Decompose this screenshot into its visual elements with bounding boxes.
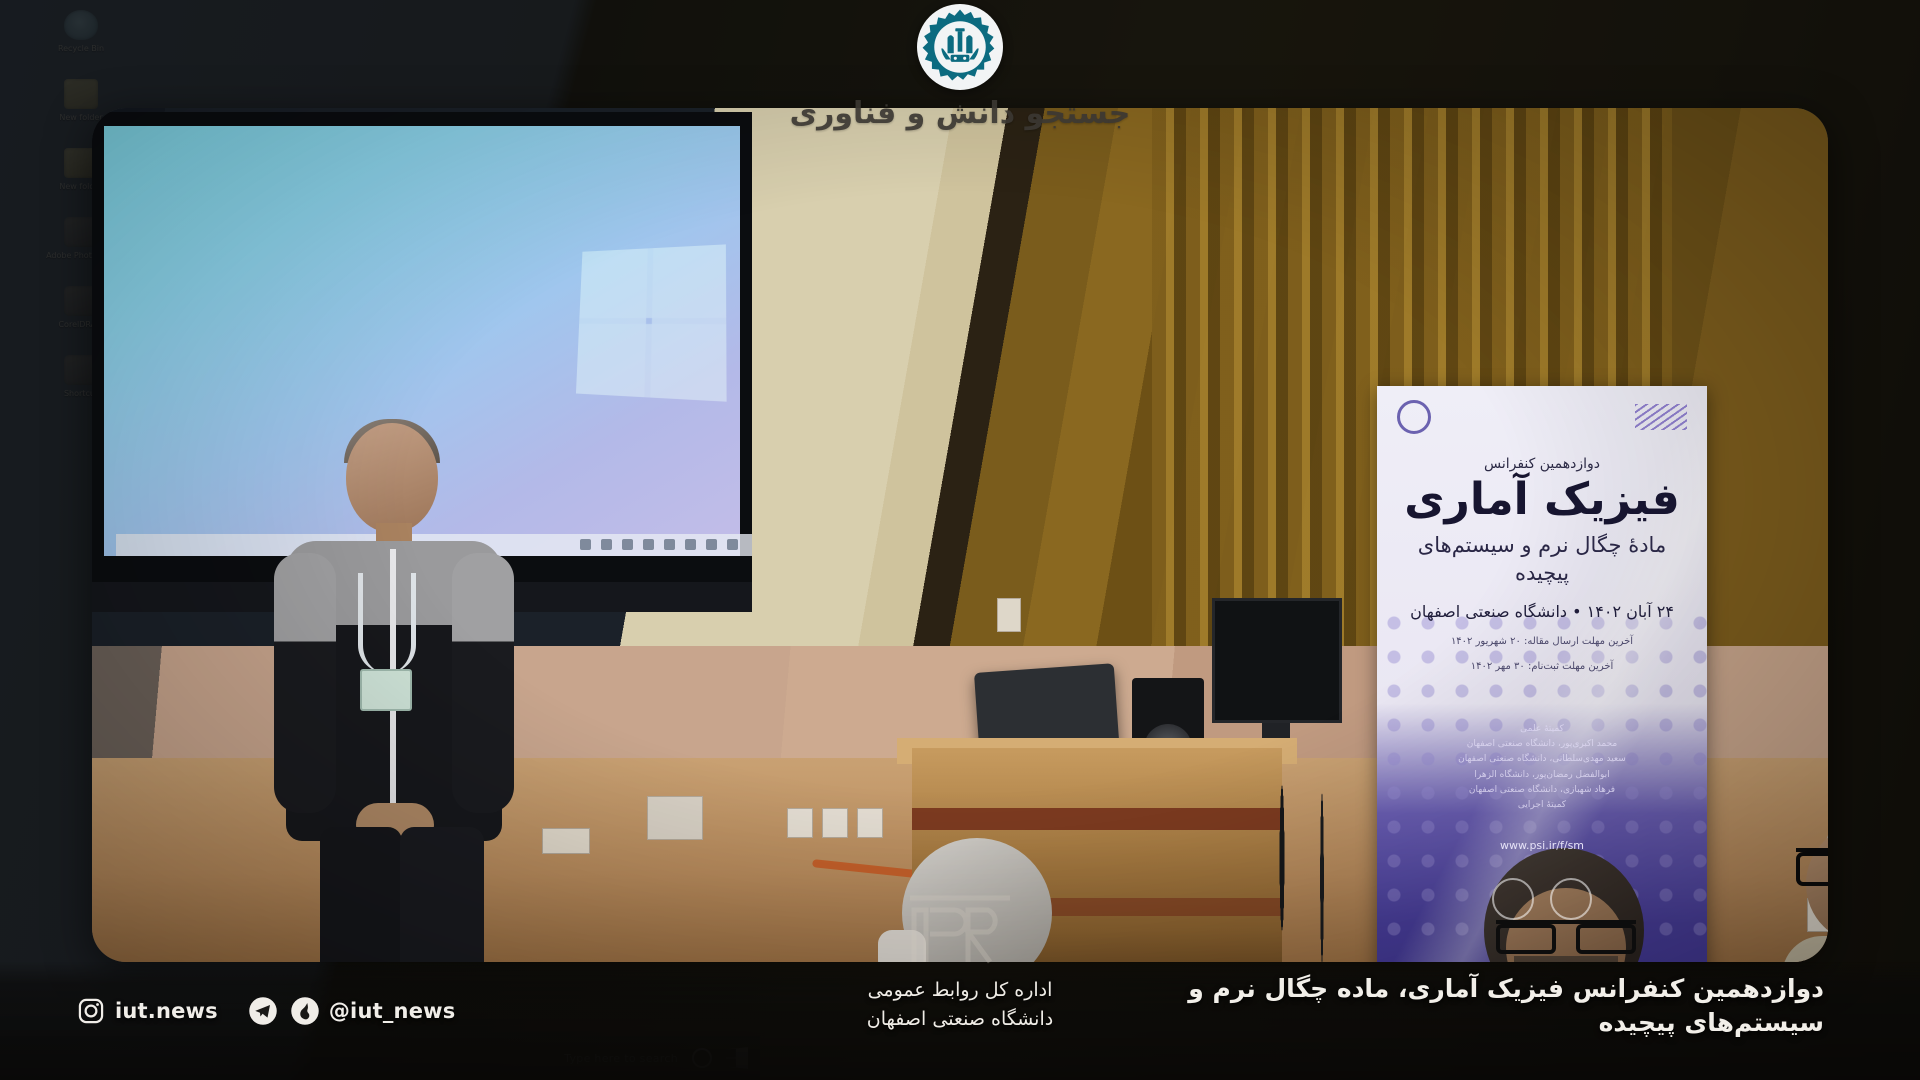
presenter-head (346, 423, 438, 533)
banner-date-venue: ۲۴ آبان ۱۴۰۲ • دانشگاه صنعتی اصفهان (1393, 600, 1691, 624)
footer-org-line-1: اداره کل روابط عمومی (867, 976, 1053, 1005)
telegram-icon (248, 996, 278, 1026)
banner-committee: کمیتهٔ علمی محمد اکبری‌پور، دانشگاه صنعت… (1393, 722, 1691, 814)
banner-committee-member: ابوالفضل رمضان‌پور، دانشگاه الزهرا (1393, 768, 1691, 783)
footer-caption: دوازدهمین کنفرانس فیزیک آماری، ماده چگال… (1124, 972, 1824, 1040)
social-bale[interactable]: @iut_news (290, 996, 456, 1026)
banner-committee-member: محمد اکبری‌پور، دانشگاه صنعتی اصفهان (1393, 737, 1691, 752)
wall-plate (647, 796, 703, 840)
banner-topic: مادهٔ چگال نرم و سیستم‌های پیچیده (1393, 531, 1691, 588)
presenter-badge (360, 669, 412, 711)
brand-header: جستجو دانش و فناوری (700, 0, 1220, 152)
iut-seal-logo (917, 4, 1003, 90)
wall-socket-2 (822, 808, 848, 838)
wall-socket-3 (857, 808, 883, 838)
banner-footer-logo-1 (1550, 878, 1592, 920)
presenter-figure (272, 423, 532, 962)
presenter-lanyard (358, 573, 416, 673)
banner-committee-member: فرهاد شهبازی، دانشگاه صنعتی اصفهان (1393, 783, 1691, 798)
news-card-stage: Recycle Bin New folder New folder Adobe … (0, 0, 1920, 1080)
monitor (1212, 598, 1342, 723)
photo-card: دوازدهمین کنفرانس فیزیک آماری مادهٔ چگال… (92, 108, 1828, 962)
presenter-leg-right (400, 827, 484, 962)
banner-url: www.psi.ir/f/sm (1393, 839, 1691, 852)
footer-social-links: iut.news @iut_news (76, 996, 455, 1026)
banner-committee-member: سعید مهدی‌سلطانی، دانشگاه صنعتی اصفهان (1393, 752, 1691, 767)
footer-organization: اداره کل روابط عمومی دانشگاه صنعتی اصفها… (867, 976, 1053, 1035)
social-instagram[interactable]: iut.news (76, 996, 218, 1026)
bale-handle: @iut_news (329, 999, 456, 1023)
wall-outlet (997, 598, 1021, 632)
banner-title: فیزیک آماری (1393, 474, 1691, 525)
footer-org-line-2: دانشگاه صنعتی اصفهان (867, 1005, 1053, 1034)
banner-committee-title: کمیتهٔ علمی (1393, 722, 1691, 737)
social-telegram[interactable] (248, 996, 278, 1026)
banner-deadline-paper: آخرین مهلت ارسال مقاله: ۲۰ شهریور ۱۴۰۲ (1393, 634, 1691, 649)
banner-committee-exec: کمیتهٔ اجرایی (1393, 798, 1691, 813)
wall-plate-2 (542, 828, 590, 854)
banner-deadline-register: آخرین مهلت ثبت‌نام: ۳۰ مهر ۱۴۰۲ (1393, 659, 1691, 674)
instagram-handle: iut.news (115, 999, 218, 1023)
windows-logo-icon (576, 244, 727, 401)
page-title: جستجو دانش و فناوری (790, 96, 1131, 131)
presenter-sleeve-left (274, 553, 336, 813)
audience-member-right (1782, 788, 1828, 962)
footer-bar: دوازدهمین کنفرانس فیزیک آماری، ماده چگال… (0, 962, 1920, 1080)
presenter-leg-left (320, 827, 402, 962)
eyeglasses-icon (1796, 848, 1828, 872)
pr-watermark-icon (900, 876, 1020, 972)
iut-logo-icon (1397, 400, 1431, 434)
psi-logo-icon (1635, 404, 1687, 430)
podium-band (912, 808, 1282, 830)
banner-footer-logo-2 (1492, 878, 1534, 920)
conference-banner: دوازدهمین کنفرانس فیزیک آماری مادهٔ چگال… (1377, 386, 1707, 962)
conference-photo: دوازدهمین کنفرانس فیزیک آماری مادهٔ چگال… (92, 108, 1828, 962)
instagram-icon (76, 996, 106, 1026)
banner-subtitle: دوازدهمین کنفرانس (1393, 456, 1691, 472)
bale-icon (290, 996, 320, 1026)
presenter-sleeve-right (452, 553, 514, 813)
wall-socket-1 (787, 808, 813, 838)
